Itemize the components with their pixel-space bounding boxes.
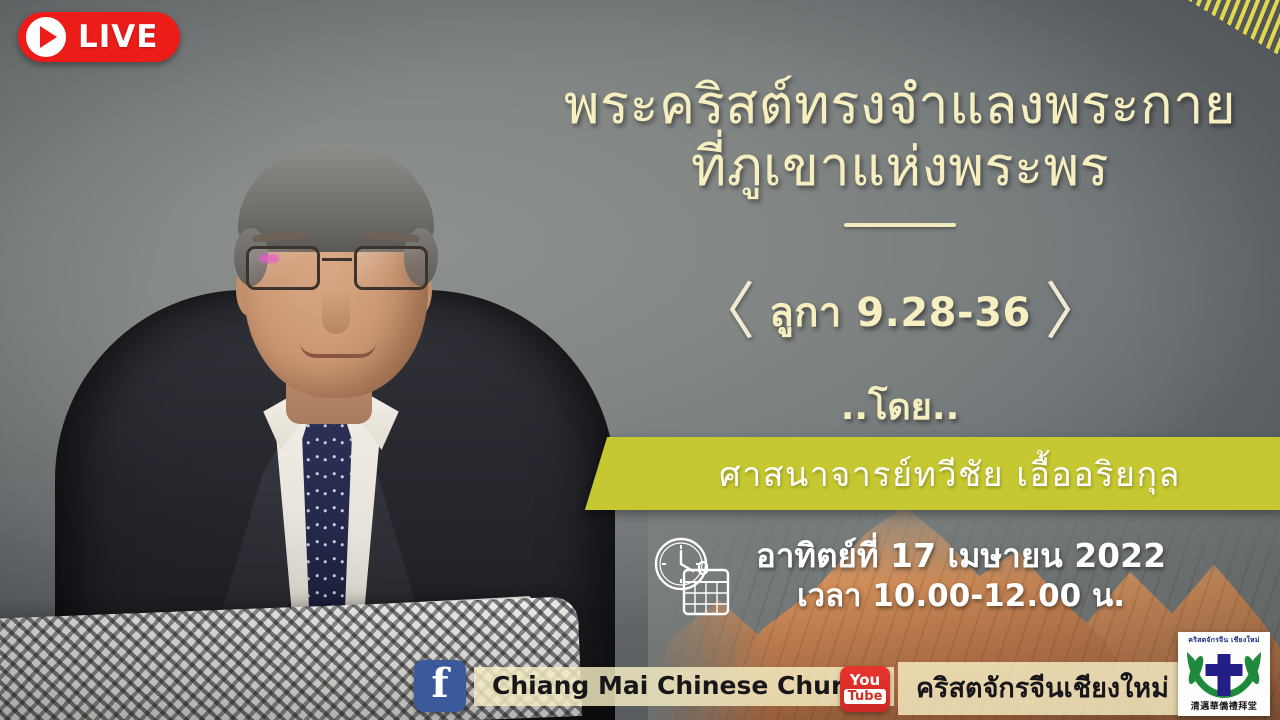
sermon-title-line-2: ที่ภูเขาแห่งพระพร: [520, 136, 1280, 198]
live-badge[interactable]: LIVE: [18, 12, 180, 62]
cross-icon: [1218, 654, 1231, 696]
live-badge-label: LIVE: [78, 19, 158, 55]
scripture-reference-row: 〈 ลูกา 9.28-36 〉: [520, 280, 1280, 344]
chevron-left-icon: 〈: [693, 281, 755, 343]
schedule-row: อาทิตย์ที่ 17 เมษายน 2022 เวลา 10.00-12.…: [648, 534, 1166, 620]
schedule-time: เวลา 10.00-12.00 น.: [756, 576, 1166, 618]
youtube-icon[interactable]: You Tube: [840, 666, 890, 712]
live-stream-overlay: LIVE พระคริสต์ทรงจำแลงพระกาย ที่ภูเขาแห่…: [0, 0, 1280, 720]
play-icon: [24, 15, 68, 59]
schedule-text: อาทิตย์ที่ 17 เมษายน 2022 เวลา 10.00-12.…: [756, 537, 1166, 618]
facebook-icon[interactable]: f: [414, 660, 466, 712]
church-logo: คริสตจักรจีน เชียงใหม่ 清邁華僑禮拜堂: [1178, 632, 1270, 716]
title-divider: [844, 223, 956, 227]
logo-arc-text: คริสตจักรจีน เชียงใหม่: [1178, 635, 1270, 646]
logo-chinese-text: 清邁華僑禮拜堂: [1178, 699, 1270, 712]
facebook-page-name: Chiang Mai Chinese Church: [474, 667, 894, 706]
clock-calendar-icon: [648, 534, 734, 620]
speaker-by-label: ..โดย..: [520, 378, 1280, 435]
chevron-right-icon: 〉: [1045, 281, 1107, 343]
facebook-link[interactable]: f Chiang Mai Chinese Church: [414, 660, 894, 712]
youtube-channel-name: คริสตจักรจีนเชียงใหม่: [898, 662, 1187, 715]
youtube-icon-bottom: Tube: [844, 689, 887, 704]
youtube-icon-top: You: [850, 673, 880, 688]
schedule-date: อาทิตย์ที่ 17 เมษายน 2022: [756, 537, 1166, 576]
youtube-link[interactable]: You Tube คริสตจักรจีนเชียงใหม่: [840, 662, 1187, 715]
play-triangle: [40, 26, 57, 48]
scripture-reference: ลูกา 9.28-36: [769, 280, 1031, 344]
sermon-title-line-1: พระคริสต์ทรงจำแลงพระกาย: [520, 74, 1280, 136]
sermon-title-block: พระคริสต์ทรงจำแลงพระกาย ที่ภูเขาแห่งพระพ…: [520, 74, 1280, 227]
speaker-name: ศาสนาจารย์ทวีชัย เอื้ออริยกุล: [640, 437, 1260, 510]
